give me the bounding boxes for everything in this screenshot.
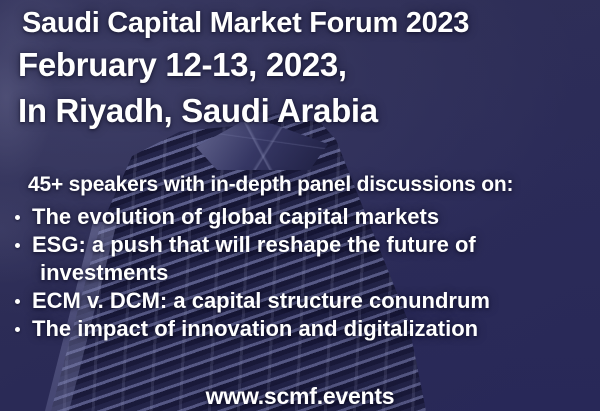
topic-text: The evolution of global capital markets <box>32 203 590 231</box>
bullet-dot-icon <box>15 243 20 248</box>
list-item: ECM v. DCM: a capital structure conundru… <box>10 287 590 315</box>
bullet-dot-icon <box>15 299 20 304</box>
topic-text-continued: investments <box>32 259 590 287</box>
event-promo-poster: Saudi Capital Market Forum 2023 February… <box>0 0 600 411</box>
event-date-line: February 12-13, 2023, <box>18 46 347 84</box>
topic-text: ECM v. DCM: a capital structure conundru… <box>32 287 590 315</box>
list-item: The evolution of global capital markets <box>10 203 590 231</box>
poster-content: Saudi Capital Market Forum 2023 February… <box>0 0 600 411</box>
topic-text: ESG: a push that will reshape the future… <box>32 231 590 259</box>
topics-list: The evolution of global capital markets … <box>10 203 590 343</box>
event-location-line: In Riyadh, Saudi Arabia <box>18 92 378 130</box>
topic-text: The impact of innovation and digitalizat… <box>32 315 590 343</box>
page-title: Saudi Capital Market Forum 2023 <box>22 6 469 40</box>
list-item: ESG: a push that will reshape the future… <box>10 231 590 287</box>
website-url[interactable]: www.scmf.events <box>0 382 600 410</box>
list-item: The impact of innovation and digitalizat… <box>10 315 590 343</box>
speakers-summary: 45+ speakers with in-depth panel discuss… <box>28 172 513 198</box>
bullet-dot-icon <box>15 215 20 220</box>
bullet-dot-icon <box>15 327 20 332</box>
